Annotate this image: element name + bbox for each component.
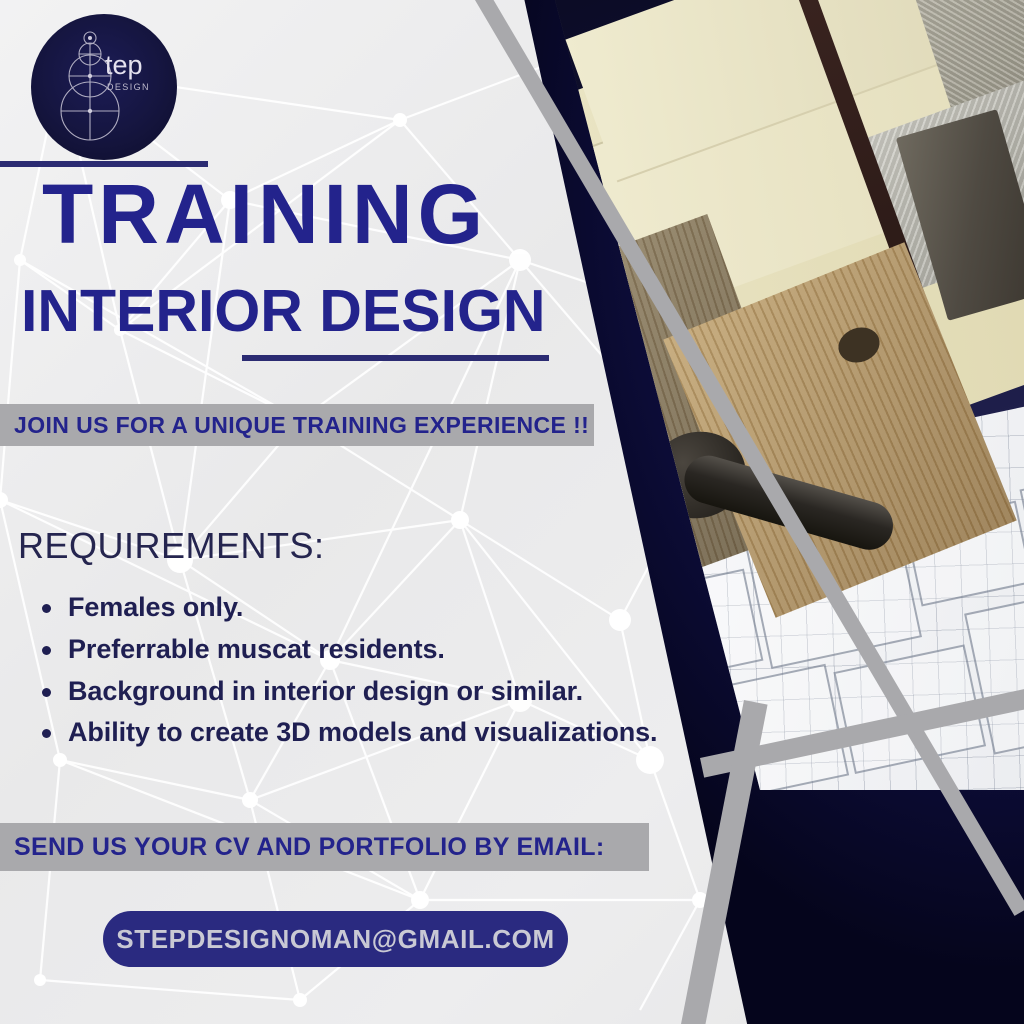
list-item: Preferrable muscat residents. [36, 632, 716, 667]
poster-canvas: tep DESIGN TRAINING INTERIOR DESIGN JOIN… [0, 0, 1024, 1024]
page-title: TRAINING [42, 172, 488, 256]
send-cv-banner-text: SEND US YOUR CV AND PORTFOLIO BY EMAIL: [14, 833, 604, 862]
join-banner: JOIN US FOR A UNIQUE TRAINING EXPERIENCE… [0, 404, 594, 446]
list-item: Background in interior design or similar… [36, 674, 716, 709]
list-item: Ability to create 3D models and visualiz… [36, 715, 716, 750]
list-item: Females only. [36, 590, 716, 625]
requirements-list: Females only. Preferrable muscat residen… [36, 590, 716, 757]
join-banner-text: JOIN US FOR A UNIQUE TRAINING EXPERIENCE… [14, 412, 589, 439]
logo-word-tep: tep [105, 50, 143, 80]
page-subtitle: INTERIOR DESIGN [21, 282, 546, 341]
requirements-heading: REQUIREMENTS: [18, 525, 325, 567]
email-address-text: STEPDESIGNOMAN@GMAIL.COM [116, 924, 554, 955]
send-cv-banner: SEND US YOUR CV AND PORTFOLIO BY EMAIL: [0, 823, 649, 871]
headline-rule-bottom [242, 355, 549, 361]
email-button[interactable]: STEPDESIGNOMAN@GMAIL.COM [103, 911, 568, 967]
logo-word-design: DESIGN [107, 82, 150, 92]
logo-mark-icon: tep DESIGN [31, 14, 177, 160]
step-design-logo[interactable]: tep DESIGN [31, 14, 177, 160]
